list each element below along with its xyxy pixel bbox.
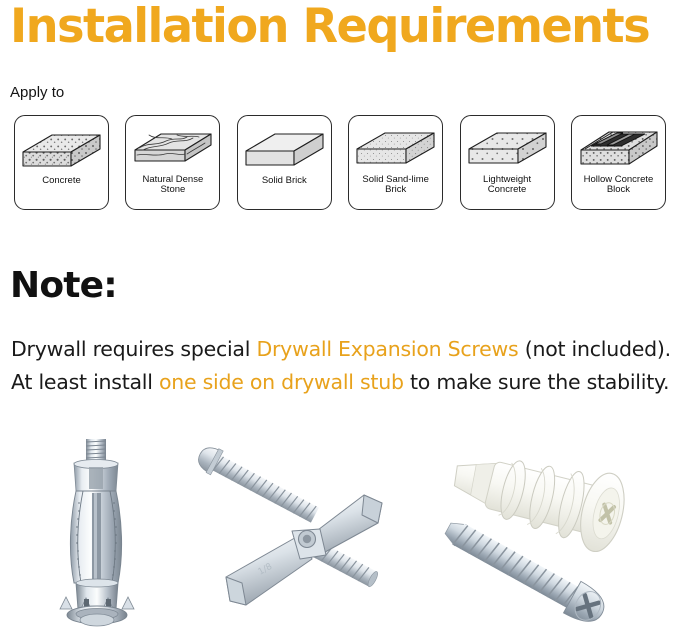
material-label: Concrete — [16, 175, 108, 186]
sand-lime-brick-icon — [348, 116, 443, 176]
apply-to-label: Apply to — [10, 84, 64, 102]
note-highlight-one-side-on-drywall-stub: one side on drywall stub — [159, 370, 404, 394]
installation-requirements-page: Installation Requirements Apply to — [0, 0, 679, 628]
material-card-solid-sand-lime-brick: Solid Sand-lime Brick — [348, 115, 443, 210]
material-label-line2: Block — [572, 184, 664, 195]
page-title: Installation Requirements — [10, 0, 666, 56]
metal-hollow-wall-molly-anchor-icon — [30, 433, 170, 628]
note-text-part1: Drywall requires special — [11, 337, 256, 361]
hardware-photo-row: 1/8 — [0, 425, 679, 628]
note-highlight-drywall-expansion-screws: Drywall Expansion Screws — [256, 337, 518, 361]
concrete-block-icon — [14, 116, 109, 176]
material-card-lightweight-concrete: Lightweight Concrete — [460, 115, 555, 210]
lightweight-concrete-icon — [460, 116, 555, 176]
material-label: Solid Brick — [238, 175, 330, 186]
material-label-line2: Brick — [350, 184, 442, 195]
note-body: Drywall requires special Drywall Expansi… — [11, 333, 671, 399]
material-card-hollow-concrete-block: Hollow Concrete Block — [571, 115, 666, 210]
note-text-part3: to make sure the stability. — [404, 370, 670, 394]
material-card-natural-dense-stone: Natural Dense Stone — [125, 115, 220, 210]
white-self-drilling-drywall-anchor-with-screw-icon — [438, 430, 678, 628]
material-label-line2: Concrete — [461, 184, 553, 195]
note-heading: Note: — [10, 264, 117, 308]
natural-stone-slab-icon — [125, 116, 220, 176]
hollow-concrete-block-icon — [571, 116, 666, 176]
solid-brick-icon — [237, 116, 332, 176]
material-card-concrete: Concrete — [14, 115, 109, 210]
spring-toggle-bolt-icon: 1/8 — [188, 435, 398, 625]
material-label-line2: Stone — [127, 184, 219, 195]
material-card-solid-brick: Solid Brick — [237, 115, 332, 210]
material-box-row: Concrete Natural Dense — [14, 115, 666, 212]
